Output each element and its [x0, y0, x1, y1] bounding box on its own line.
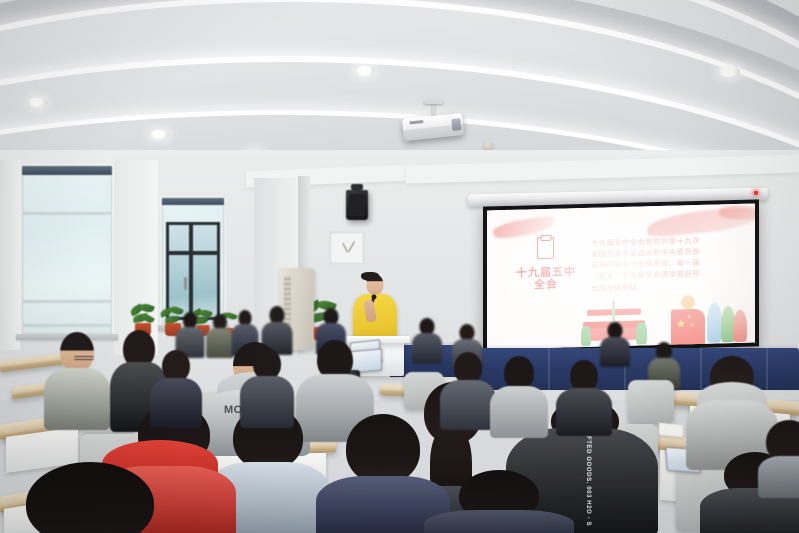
head	[504, 356, 534, 390]
flag-star-small: ★	[690, 323, 694, 328]
torso	[240, 376, 294, 428]
ceiling-downlight-6	[718, 66, 740, 77]
ceiling-speaker	[346, 190, 368, 220]
audience-member-mid-2	[440, 352, 496, 426]
figure-worker-1	[707, 302, 722, 342]
torso	[150, 378, 202, 428]
tiananmen-foliage-left	[581, 326, 591, 346]
ceiling-downlight-5	[355, 66, 375, 76]
ceiling-downlight-2	[150, 130, 169, 139]
torso	[556, 388, 612, 436]
audience-member-mid-5	[150, 350, 202, 424]
slide-body-text: 十九届五中全会是党的第十九次 全国代表大会选出的中央委员会 召开的第五次全体会议…	[591, 233, 755, 293]
audience-member-mid-1	[240, 348, 294, 424]
window-mullion-h	[22, 324, 112, 327]
window-blind-header	[22, 166, 112, 175]
screen-power-led	[754, 191, 758, 195]
projector-mount-plate	[424, 100, 443, 104]
window-frame-vertical	[189, 225, 193, 317]
ceiling-downlight-1	[28, 98, 47, 107]
window-mullion-h	[22, 300, 112, 303]
bench-seam	[548, 348, 550, 390]
torso	[440, 380, 496, 430]
presenter-hair-bun	[361, 272, 379, 281]
flag-star-large: ★	[676, 319, 686, 330]
ceiling-projector	[402, 113, 464, 141]
window-frame-horizontal	[169, 251, 217, 255]
slide-illustration-flag-figures: ★ ★ ★	[663, 294, 749, 348]
head	[60, 332, 94, 372]
audience-member-mid-4	[556, 360, 612, 432]
window-pier-left	[0, 160, 20, 350]
slide-title-line-2: 全会	[511, 278, 581, 292]
smoke-detector-icon	[483, 142, 494, 149]
audience-member-right-edge	[758, 420, 799, 492]
torso	[490, 386, 548, 438]
window-mullion-h	[22, 212, 112, 215]
notebook-1[interactable]	[659, 423, 683, 438]
tiananmen-foliage-right	[636, 322, 647, 344]
slide-title-badge-icon	[537, 237, 554, 259]
speaker-bracket	[351, 184, 363, 191]
audience-member-foreground-left	[10, 462, 170, 533]
figure-worker-3	[733, 310, 747, 342]
torso	[424, 510, 574, 533]
head	[26, 462, 154, 533]
audience-member-back-8	[600, 322, 630, 364]
window-handle	[184, 277, 187, 290]
wall-clock	[330, 232, 364, 264]
window-blind-header	[162, 198, 224, 205]
audience-member-mid-3	[490, 356, 548, 434]
clock-hand-minute	[348, 241, 355, 252]
torso	[758, 456, 799, 498]
slide-title: 十九届五中 全会	[511, 266, 581, 292]
torso	[412, 333, 442, 364]
classroom-photo: 十九届五中 全会 十九届五中全会是党的第十九次 全国代表大会选出的中央委员会 召…	[0, 0, 799, 533]
audience-member-back-6	[412, 318, 442, 362]
jacket-text-fted-goods: FTED GOODS. 003 H2O - S	[585, 436, 591, 526]
sun-icon	[681, 295, 695, 309]
head	[346, 414, 420, 484]
flag-star-small: ★	[687, 315, 691, 320]
window-left-large	[20, 164, 114, 336]
audience-member-navy-bottom-right	[424, 470, 574, 533]
eyeglasses	[74, 356, 94, 360]
